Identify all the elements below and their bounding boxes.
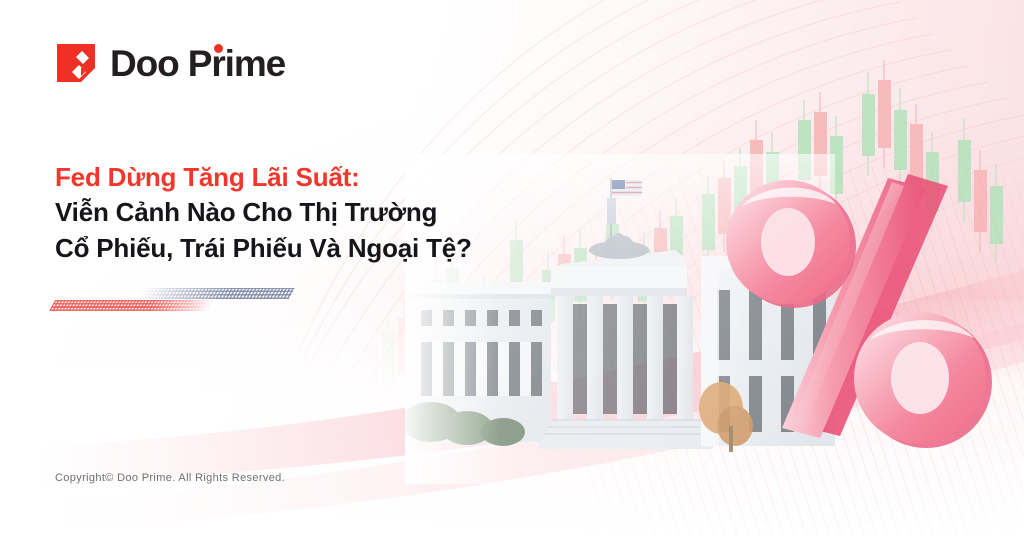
brand-name-text: Doo Prime (110, 43, 285, 84)
decorative-rule-blue (137, 288, 295, 299)
decorative-rule-red (49, 300, 215, 311)
doo-prime-logo-icon (55, 42, 97, 84)
headline-line-1: Fed Dừng Tăng Lãi Suất: (55, 160, 615, 195)
headline-block: Fed Dừng Tăng Lãi Suất: Viễn Cảnh Nào Ch… (55, 160, 615, 266)
headline-line-2: Viễn Cảnh Nào Cho Thị Trường (55, 195, 615, 230)
promotional-banner: Doo Prime Fed Dừng Tăng Lãi Suất: Viễn C… (0, 0, 1024, 536)
headline-line-3: Cổ Phiếu, Trái Phiếu Và Ngoại Tệ? (55, 231, 615, 266)
logo-dot-icon (214, 44, 223, 53)
brand-logo[interactable]: Doo Prime (55, 42, 285, 84)
brand-name: Doo Prime (110, 45, 285, 82)
decorative-rule (52, 288, 282, 314)
copyright-text: Copyright© Doo Prime. All Rights Reserve… (55, 472, 285, 484)
